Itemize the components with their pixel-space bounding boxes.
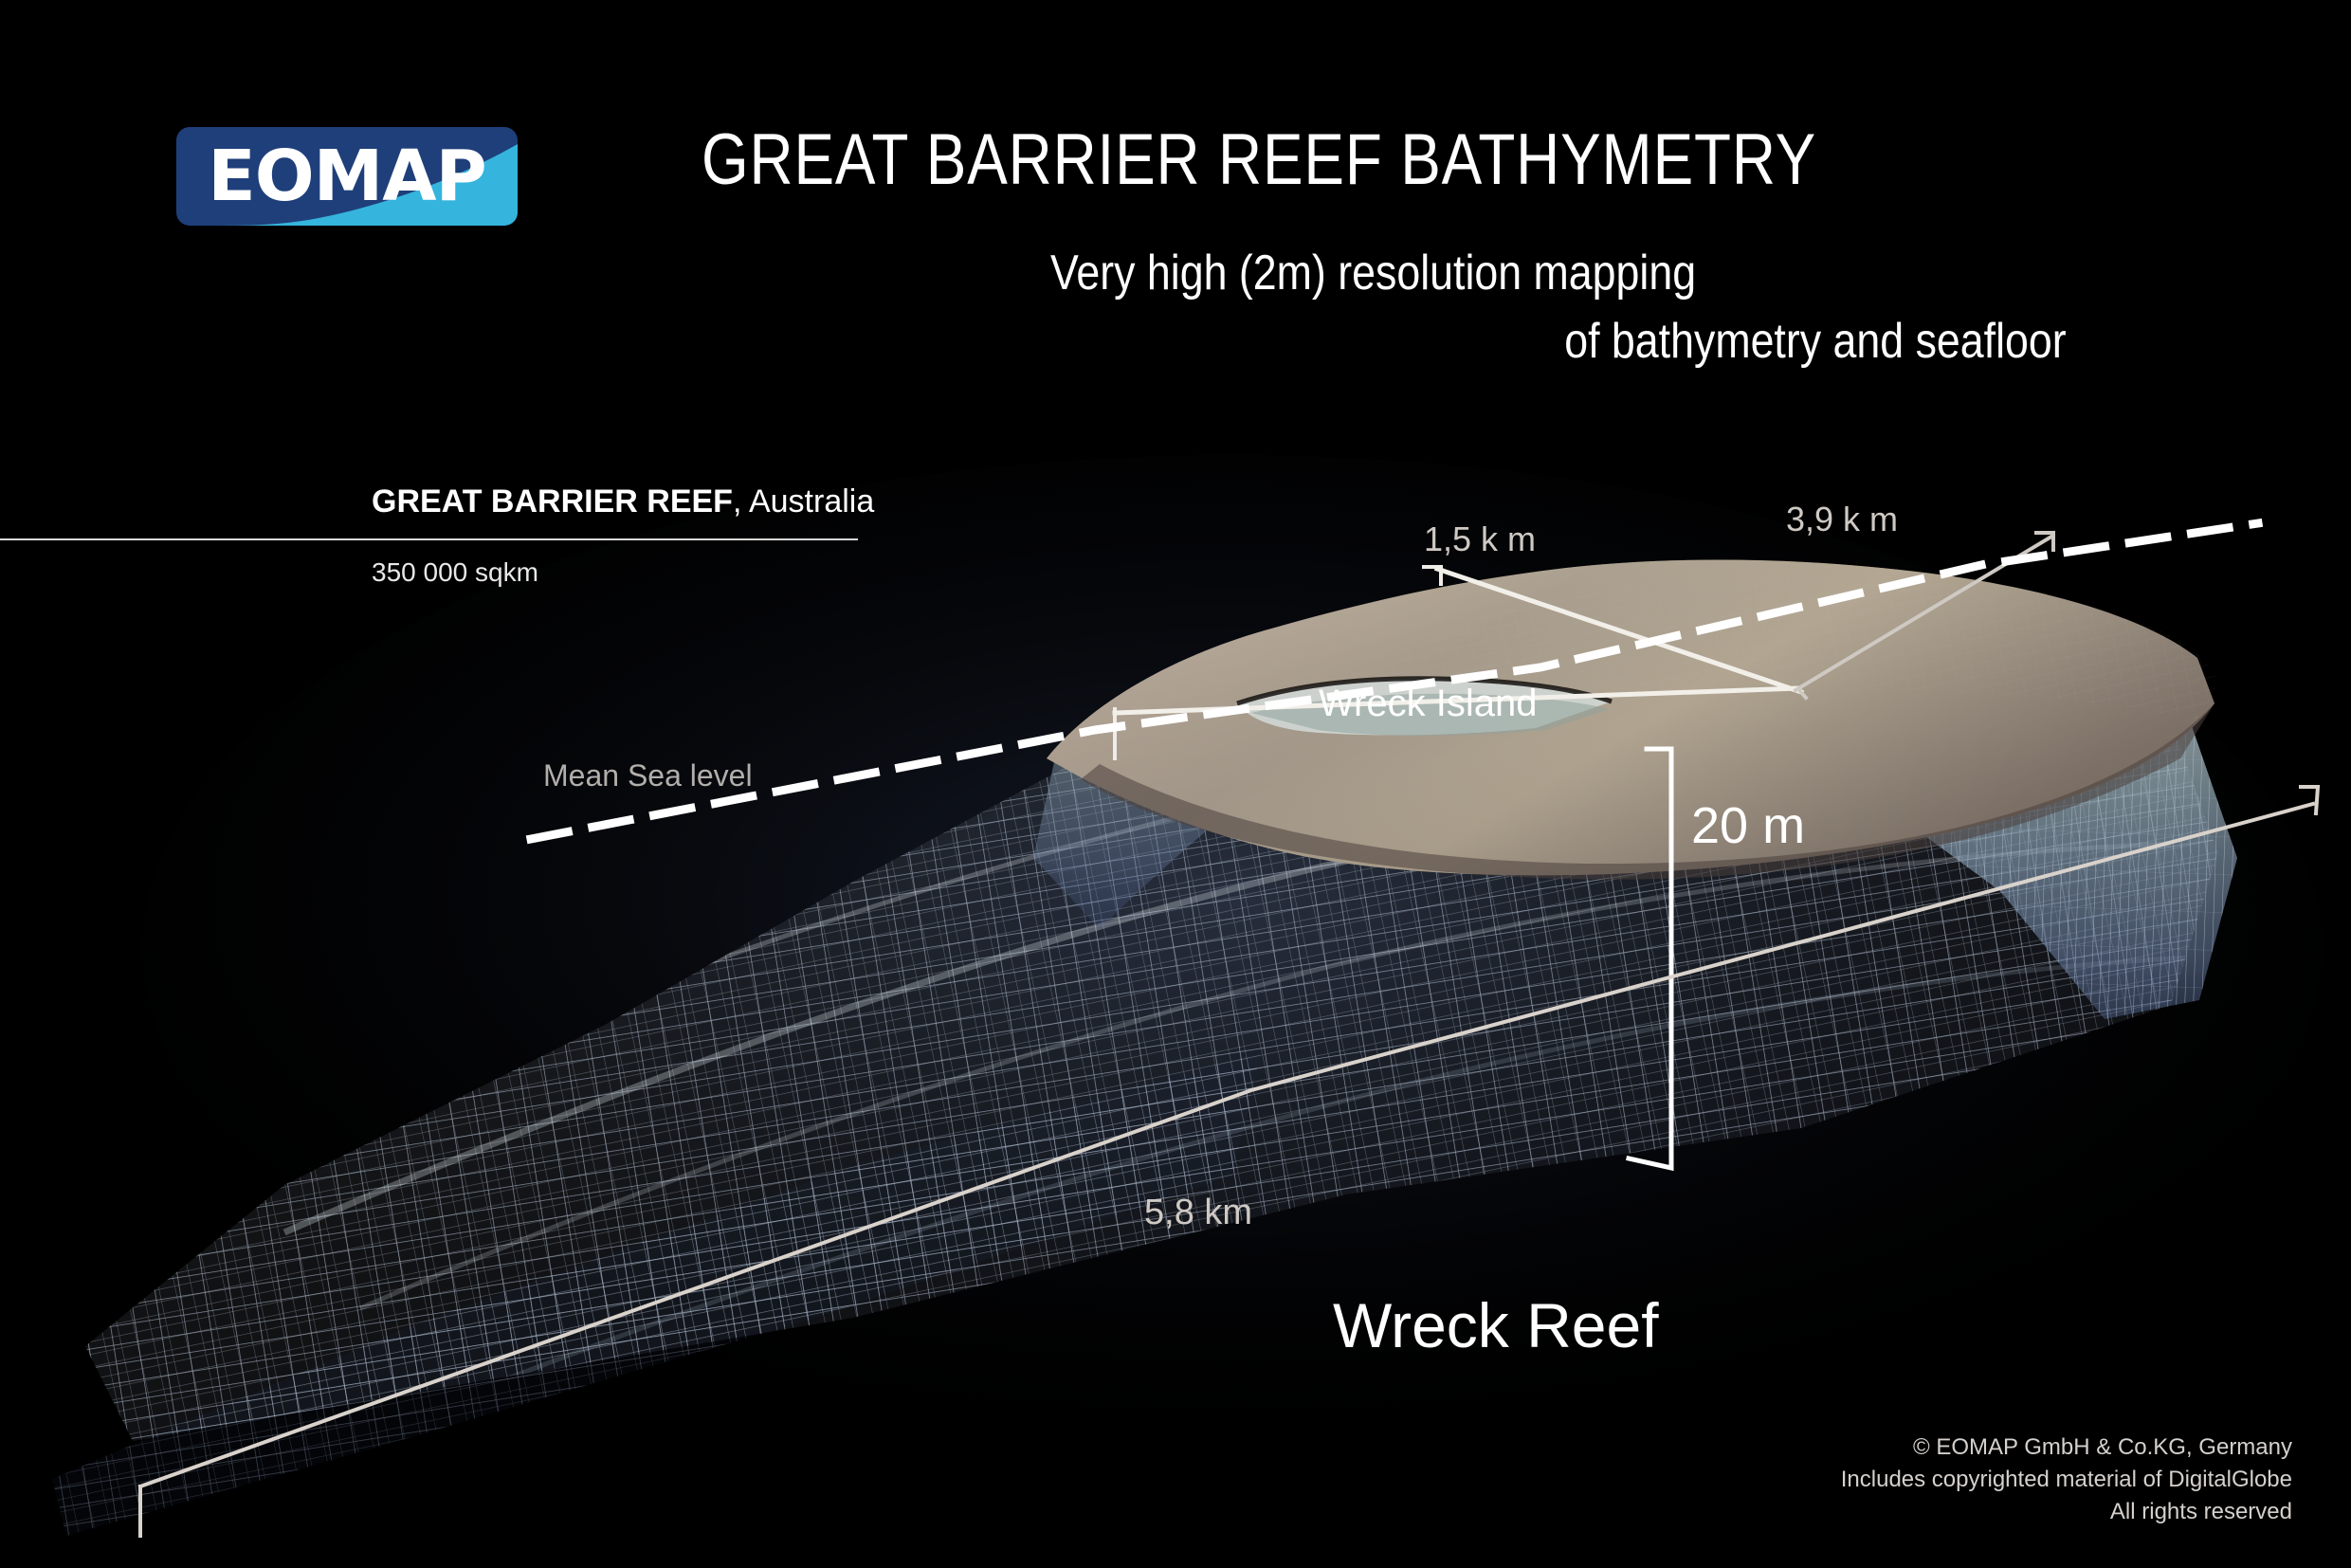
- subtitle-line-1: Very high (2m) resolution mapping: [1050, 245, 1696, 301]
- label-length-top: 3,9 k m: [1786, 500, 1898, 539]
- credit-line-3: All rights reserved: [1841, 1496, 2292, 1528]
- mesh-tail: [0, 995, 1375, 1568]
- label-width-top: 1,5 k m: [1424, 520, 1536, 559]
- label-mean-sea-level: Mean Sea level: [543, 758, 753, 793]
- credit-line-2: Includes copyrighted material of Digital…: [1841, 1464, 2292, 1496]
- subtitle-line-2-text: of bathymetry and seafloor: [1565, 313, 2067, 370]
- credit-line-1: © EOMAP GmbH & Co.KG, Germany: [1841, 1431, 2292, 1464]
- credits-block: © EOMAP GmbH & Co.KG, Germany Includes c…: [1841, 1431, 2292, 1528]
- reef-platform-top: [1047, 560, 2237, 880]
- region-divider: [0, 538, 858, 540]
- depth-bracket: [1629, 749, 1671, 1168]
- poster-canvas: EOMAP GREAT BARRIER REEF BATHYMETRY Very…: [0, 0, 2351, 1568]
- logo-wordmark: EOMAP: [176, 127, 518, 226]
- region-name: GREAT BARRIER REEF: [372, 483, 733, 520]
- label-depth: 20 m: [1691, 796, 1805, 855]
- bathymetry-3d-model: [0, 0, 2351, 1568]
- label-length-base: 5,8 km: [1144, 1193, 1252, 1233]
- region-country: , Australia: [733, 483, 874, 520]
- eomap-logo[interactable]: EOMAP: [176, 127, 518, 226]
- page-title: GREAT BARRIER REEF BATHYMETRY: [702, 119, 1816, 201]
- mesh-slope: [0, 569, 2351, 1517]
- mean-sea-level-line: [531, 523, 2258, 839]
- label-site-name: Wreck Reef: [1333, 1289, 1659, 1361]
- region-label: GREAT BARRIER REEF, Australia: [372, 483, 874, 520]
- base-length-line: [140, 804, 2313, 1486]
- region-area: 350 000 sqkm: [372, 557, 538, 588]
- subtitle-line-2: of bathymetry and seafloor: [1050, 313, 2067, 370]
- measurement-lines: [140, 523, 2318, 1536]
- label-wreck-island: Wreck Island: [1319, 683, 1537, 725]
